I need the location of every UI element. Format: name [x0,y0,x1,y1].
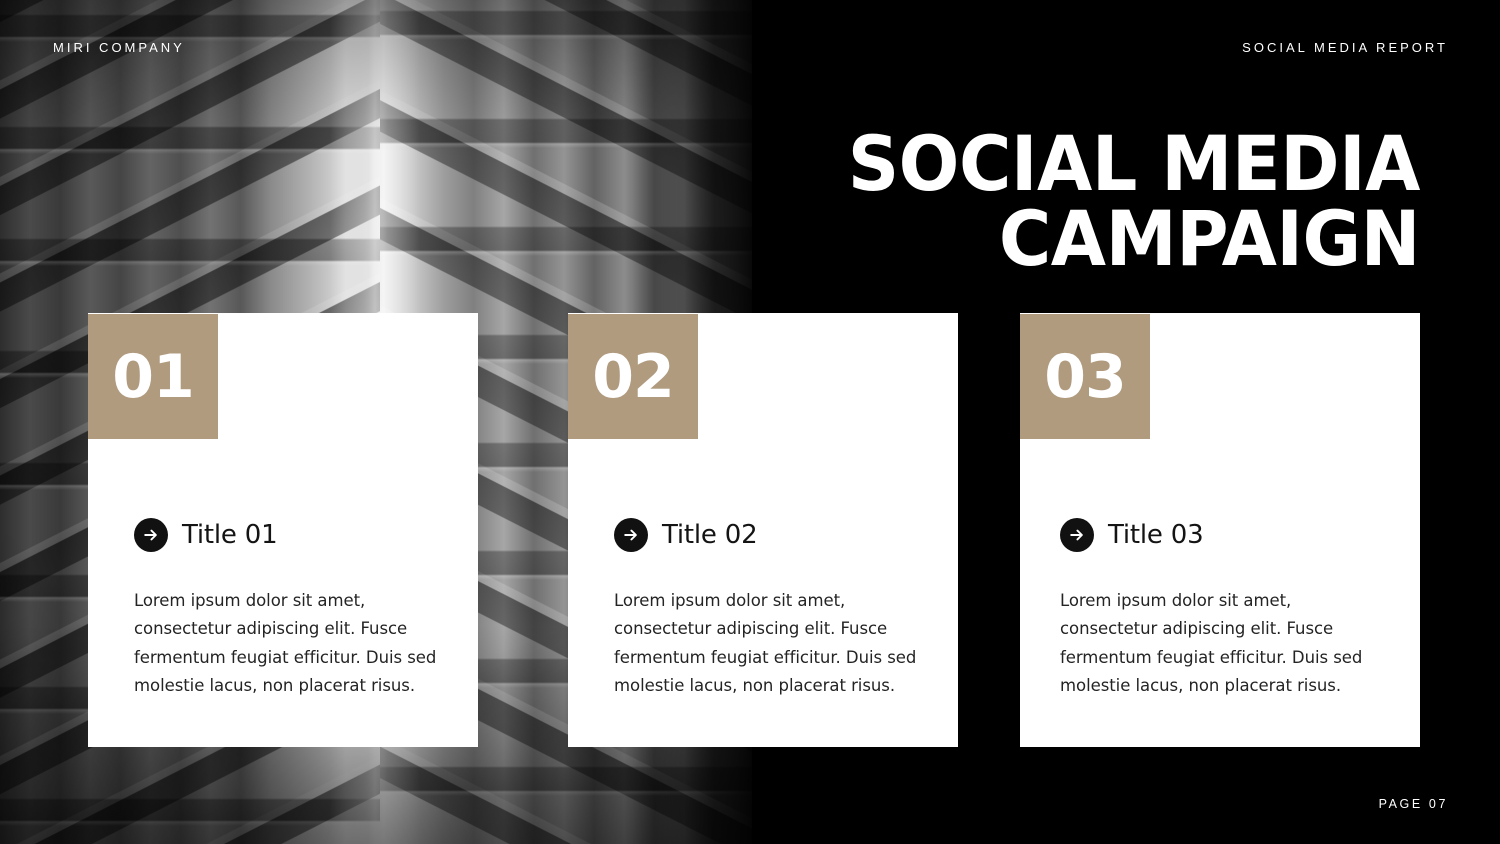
card-1-number: 01 [112,347,194,407]
card-2-description: Lorem ipsum dolor sit amet, consectetur … [614,587,924,701]
card-2-number: 02 [592,347,674,407]
brand-label: MIRI COMPANY [53,40,185,55]
card-1-title-row: Title 01 [134,518,444,552]
card-3-title: Title 03 [1108,520,1203,550]
card-3-number: 03 [1044,347,1126,407]
card-3-title-row: Title 03 [1060,518,1380,552]
card-2-body: Title 02 Lorem ipsum dolor sit amet, con… [614,518,924,701]
card-3-body: Title 03 Lorem ipsum dolor sit amet, con… [1060,518,1380,701]
card-2-title-row: Title 02 [614,518,924,552]
report-type-label: SOCIAL MEDIA REPORT [1242,40,1448,55]
card-3-description: Lorem ipsum dolor sit amet, consectetur … [1060,587,1380,701]
card-3-number-badge: 03 [1020,314,1150,439]
card-2-title: Title 02 [662,520,757,550]
card-2-number-badge: 02 [568,314,698,439]
page-number-label: PAGE 07 [1379,797,1448,811]
slide: MIRI COMPANY SOCIAL MEDIA REPORT SOCIAL … [0,0,1500,844]
card-1-body: Title 01 Lorem ipsum dolor sit amet, con… [134,518,444,701]
arrow-right-icon [1060,518,1094,552]
card-1-description: Lorem ipsum dolor sit amet, consectetur … [134,587,444,701]
page-title-line-2: CAMPAIGN [762,201,1420,276]
page-title: SOCIAL MEDIA CAMPAIGN [720,126,1420,276]
arrow-right-icon [614,518,648,552]
card-1-title: Title 01 [182,520,277,550]
arrow-right-icon [134,518,168,552]
page-title-line-1: SOCIAL MEDIA [762,126,1420,201]
card-1-number-badge: 01 [88,314,218,439]
